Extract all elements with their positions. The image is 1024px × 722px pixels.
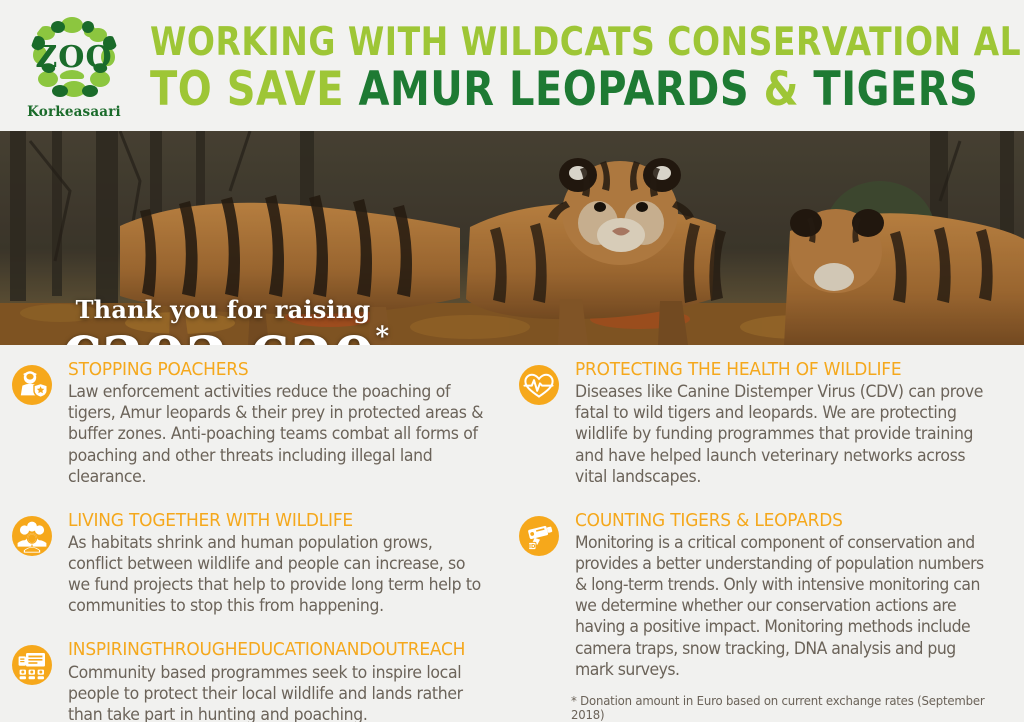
footnote-exchange-rate: * Donation amount in Euro based on curre… xyxy=(571,694,1006,722)
item-title: COUNTING TIGERS & LEOPARDS xyxy=(575,512,1004,531)
item-body: Law enforcement activities reduce the po… xyxy=(68,381,488,487)
presentation-board-icon xyxy=(12,645,52,685)
item-counting-tigers-leopards: ID COUNTING TIGERS & LEOPARDS Monitoring… xyxy=(519,496,1017,680)
hero-caption: Thank you for raising €302,620* to suppo… xyxy=(58,295,388,345)
hero-amount-asterisk: * xyxy=(375,322,388,345)
right-column: PROTECTING THE HEALTH OF WILDLIFE Diseas… xyxy=(519,345,1017,689)
hero-photo-tigers: Thank you for raising €302,620* to suppo… xyxy=(0,131,1024,345)
svg-text:ID: ID xyxy=(529,544,536,550)
heart-pulse-icon xyxy=(519,365,559,405)
zoo-logo: ZOO Korkeasaari xyxy=(0,0,148,131)
title-amur-leopards: AMUR LEOPARDS xyxy=(358,62,763,116)
item-body: Monitoring is a critical component of co… xyxy=(575,532,995,680)
ranger-badge-icon xyxy=(12,365,52,405)
item-body: As habitats shrink and human population … xyxy=(68,532,488,616)
header-banner: ZOO Korkeasaari WORKING WITH WILDCATS CO… xyxy=(0,0,1024,131)
hero-amount-value: €302,620 xyxy=(59,323,375,345)
title-tigers: TIGERS xyxy=(799,62,978,116)
header-title: WORKING WITH WILDCATS CONSERVATION ALLIA… xyxy=(148,23,1024,108)
item-title: INSPIRINGTHROUGHEDUCATIONANDOUTREACH xyxy=(68,641,497,660)
camera-trap-icon: ID xyxy=(519,516,559,556)
item-stopping-poachers: STOPPING POACHERS Law enforcement activi… xyxy=(12,345,510,487)
item-title: STOPPING POACHERS xyxy=(68,361,497,380)
title-line-1: WORKING WITH WILDCATS CONSERVATION ALLIA… xyxy=(150,23,1024,61)
item-title: PROTECTING THE HEALTH OF WILDLIFE xyxy=(575,361,1004,380)
item-title: LIVING TOGETHER WITH WILDLIFE xyxy=(68,512,497,531)
item-inspiring-through-education: INSPIRINGTHROUGHEDUCATIONANDOUTREACH Com… xyxy=(12,625,510,722)
hero-amount-raised: €302,620* xyxy=(59,328,387,345)
title-ampersand: & xyxy=(764,62,799,116)
title-to-save: TO SAVE xyxy=(150,62,358,116)
logo-wordmark-korkeasaari: Korkeasaari xyxy=(27,104,121,120)
content-columns: STOPPING POACHERS Law enforcement activi… xyxy=(0,345,1024,722)
item-body: Diseases like Canine Distemper Virus (CD… xyxy=(575,381,995,487)
item-living-together-with-wildlife: LIVING TOGETHER WITH WILDLIFE As habitat… xyxy=(12,496,510,617)
item-protecting-health-of-wildlife: PROTECTING THE HEALTH OF WILDLIFE Diseas… xyxy=(519,345,1017,487)
left-column: STOPPING POACHERS Law enforcement activi… xyxy=(12,345,510,722)
infographic-page: ZOO Korkeasaari WORKING WITH WILDCATS CO… xyxy=(0,0,1024,722)
hero-thankyou-line: Thank you for raising xyxy=(58,295,388,324)
zoo-animals-circle-logo-icon: ZOO xyxy=(28,11,120,103)
title-line-2: TO SAVE AMUR LEOPARDS & TIGERS xyxy=(150,67,1024,113)
item-body: Community based programmes seek to inspi… xyxy=(68,662,488,722)
people-group-icon xyxy=(12,516,52,556)
svg-text:ZOO: ZOO xyxy=(35,40,112,75)
